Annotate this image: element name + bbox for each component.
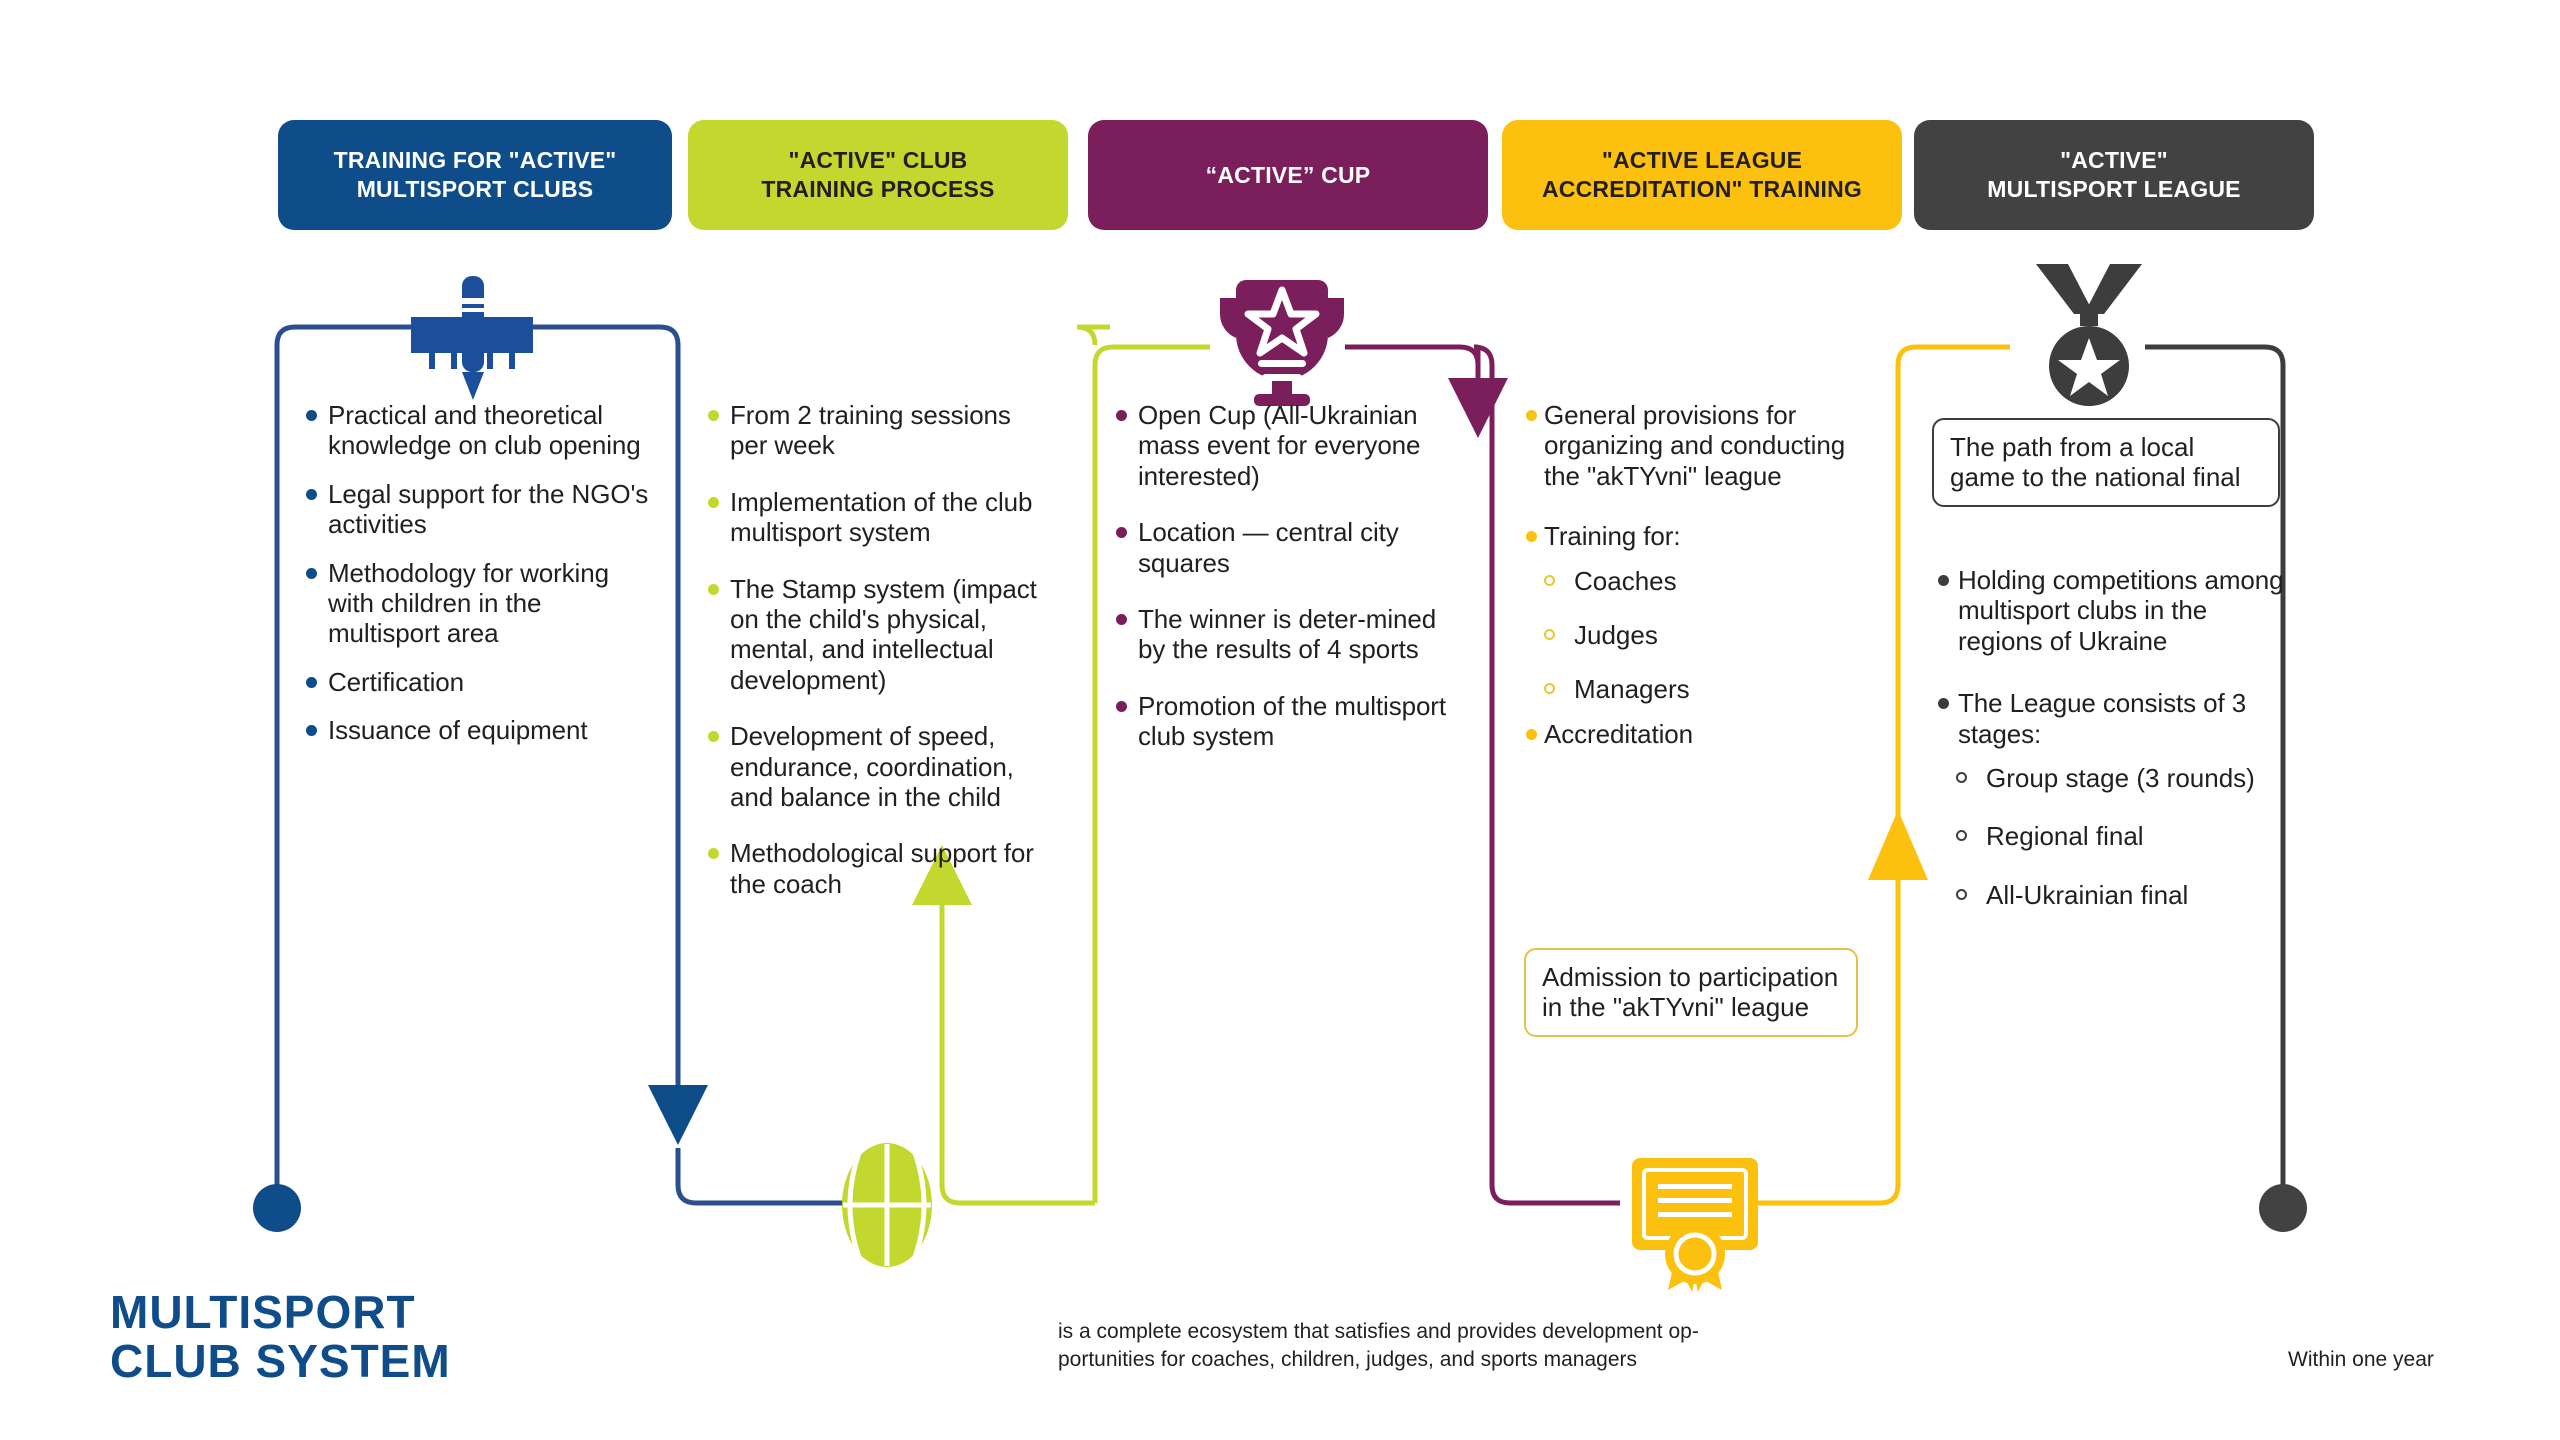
- list-item: Implementation of the club multisport sy…: [700, 487, 1050, 548]
- sub-bullet-list: Group stage (3 rounds) Regional final Al…: [1930, 763, 2290, 910]
- column-active-cup: Open Cup (All-Ukrainian mass event for e…: [1108, 400, 1468, 770]
- infographic-canvas: TRAINING FOR "ACTIVE" MULTISPORT CLUBS "…: [0, 0, 2560, 1440]
- list-item: Methodology for working with children in…: [298, 558, 658, 649]
- header-pill-league-accreditation[interactable]: "ACTIVE LEAGUE ACCREDITATION" TRAINING: [1502, 120, 1902, 230]
- bullet-list-tail: Accreditation: [1518, 719, 1868, 749]
- footer-note-line2: portunities for coaches, children, judge…: [1058, 1346, 1958, 1374]
- column-multisport-league: Holding competitions among multisport cl…: [1930, 565, 2290, 934]
- header-line1: “ACTIVE” CUP: [1206, 161, 1371, 190]
- header-pill-active-cup[interactable]: “ACTIVE” CUP: [1088, 120, 1488, 230]
- bullet-list: General provisions for organizing and co…: [1518, 400, 1868, 552]
- list-item: Holding competitions among multisport cl…: [1930, 565, 2290, 656]
- header-line2: TRAINING PROCESS: [761, 175, 994, 204]
- header-line1: "ACTIVE": [1987, 146, 2240, 175]
- bullet-list: Practical and theoretical knowledge on c…: [298, 400, 658, 746]
- sub-list-item: Group stage (3 rounds): [1930, 763, 2290, 793]
- footer-note-line1: is a complete ecosystem that satisfies a…: [1058, 1318, 1958, 1346]
- header-pill-multisport-league[interactable]: "ACTIVE" MULTISPORT LEAGUE: [1914, 120, 2314, 230]
- basketball-icon: [822, 1140, 952, 1270]
- list-item: Open Cup (All-Ukrainian mass event for e…: [1108, 400, 1468, 491]
- trophy-icon: [1212, 268, 1352, 408]
- brand-logo: MULTISPORT CLUB SYSTEM: [110, 1288, 451, 1386]
- column-club-training: From 2 training sessions per week Implem…: [700, 400, 1050, 917]
- bullet-list: Open Cup (All-Ukrainian mass event for e…: [1108, 400, 1468, 752]
- callout-path-local-national: The path from a local game to the nation…: [1932, 418, 2280, 507]
- callout-admission: Admission to participation in the "akTYv…: [1524, 948, 1858, 1037]
- list-item: Issuance of equipment: [298, 715, 658, 745]
- sub-list-item: All-Ukrainian final: [1930, 880, 2290, 910]
- bullet-list: From 2 training sessions per week Implem…: [700, 400, 1050, 899]
- footer-note: is a complete ecosystem that satisfies a…: [1058, 1318, 1958, 1375]
- list-item: Development of speed, endurance, coordin…: [700, 721, 1050, 812]
- header-line2: MULTISPORT LEAGUE: [1987, 175, 2240, 204]
- logo-line1: MULTISPORT: [110, 1288, 451, 1337]
- column-training-clubs: Practical and theoretical knowledge on c…: [298, 400, 658, 764]
- list-item: From 2 training sessions per week: [700, 400, 1050, 461]
- list-item: The winner is deter-mined by the results…: [1108, 604, 1468, 665]
- sub-list-item: Judges: [1518, 620, 1868, 650]
- sub-bullet-list: Coaches Judges Managers: [1518, 566, 1868, 705]
- header-line1: "ACTIVE LEAGUE: [1542, 146, 1862, 175]
- header-line2: MULTISPORT CLUBS: [334, 175, 617, 204]
- timeframe-label: Within one year: [2288, 1348, 2434, 1372]
- sub-list-item: Regional final: [1930, 821, 2290, 851]
- header-pill-training-clubs[interactable]: TRAINING FOR "ACTIVE" MULTISPORT CLUBS: [278, 120, 672, 230]
- list-item: Training for:: [1518, 521, 1868, 551]
- list-item: Methodological support for the coach: [700, 838, 1050, 899]
- header-line1: TRAINING FOR "ACTIVE": [334, 146, 617, 175]
- list-item: Accreditation: [1518, 719, 1868, 749]
- medal-icon: [2024, 258, 2154, 408]
- list-item: The League consists of 3 stages:: [1930, 688, 2290, 749]
- list-item: Location — central city squares: [1108, 517, 1468, 578]
- list-item: Practical and theoretical knowledge on c…: [298, 400, 658, 461]
- list-item: General provisions for organizing and co…: [1518, 400, 1868, 491]
- header-line1: "ACTIVE" CLUB: [761, 146, 994, 175]
- column-league-accreditation: General provisions for organizing and co…: [1518, 400, 1868, 767]
- list-item: The Stamp system (impact on the child's …: [700, 574, 1050, 696]
- list-item: Certification: [298, 667, 658, 697]
- logo-line2: CLUB SYSTEM: [110, 1337, 451, 1386]
- bullet-list: Holding competitions among multisport cl…: [1930, 565, 2290, 749]
- certificate-icon: [1620, 1150, 1770, 1300]
- pencil-ruler-icon: [396, 272, 548, 402]
- header-line2: ACCREDITATION" TRAINING: [1542, 175, 1862, 204]
- header-pill-club-training[interactable]: "ACTIVE" CLUB TRAINING PROCESS: [688, 120, 1068, 230]
- sub-list-item: Managers: [1518, 674, 1868, 704]
- sub-list-item: Coaches: [1518, 566, 1868, 596]
- list-item: Promotion of the multisport club system: [1108, 691, 1468, 752]
- list-item: Legal support for the NGO's activities: [298, 479, 658, 540]
